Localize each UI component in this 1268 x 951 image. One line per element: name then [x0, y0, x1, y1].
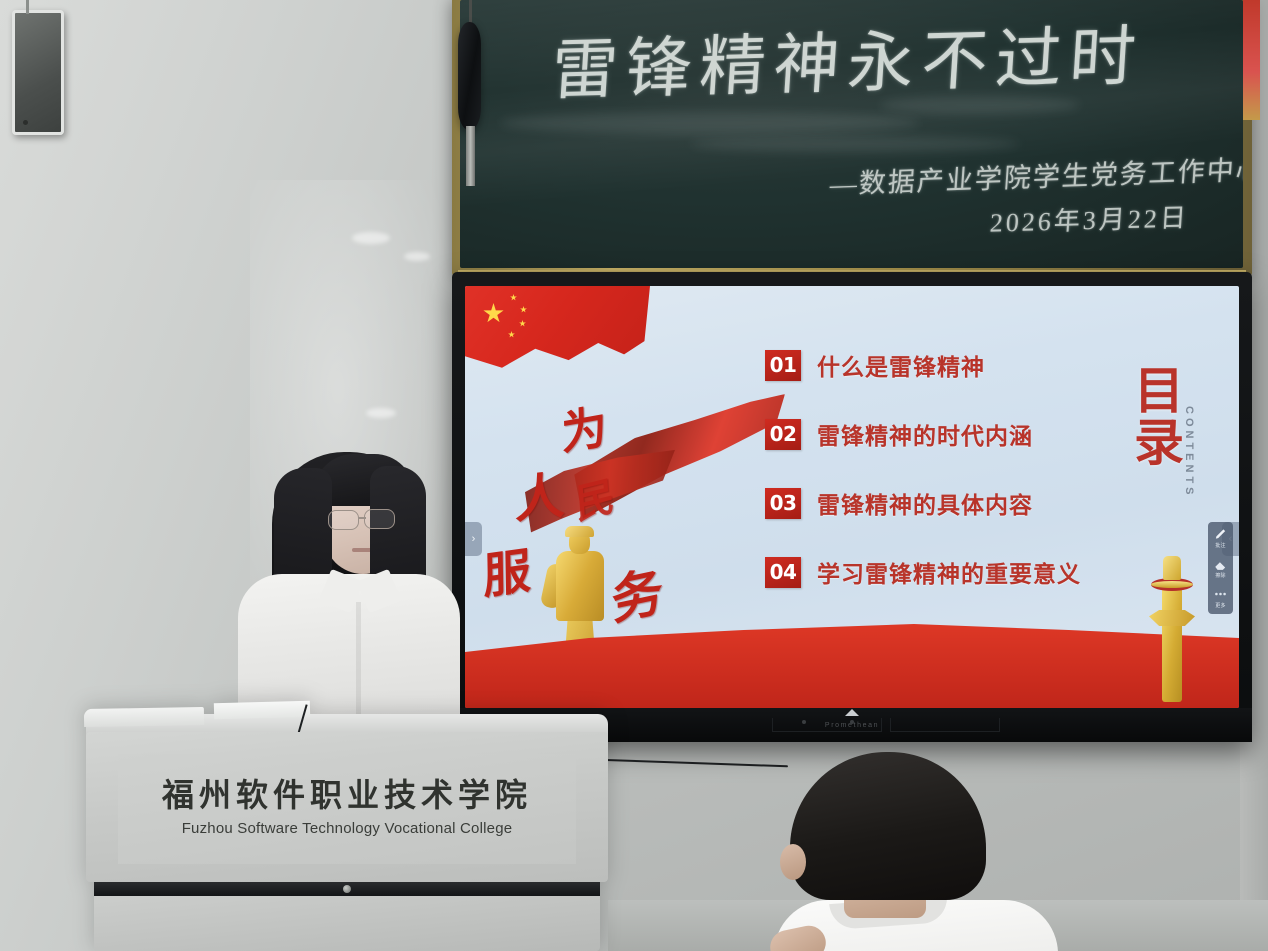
slide-heading: 目录 CONTENTS: [1130, 364, 1195, 499]
list-item: 03 雷锋精神的具体内容: [765, 486, 1095, 520]
podium-lock-icon: [343, 885, 351, 893]
glasses-bridge: [358, 517, 366, 519]
slide-heading-en: CONTENTS: [1183, 406, 1195, 499]
podium-front-panel: 福州软件职业技术学院 Fuzhou Software Technology Vo…: [86, 732, 608, 882]
podium-paper-ledge: [84, 707, 204, 727]
blackboard-date: 2026年3月22日: [989, 197, 1190, 239]
calligraphy-char: 务: [610, 548, 665, 635]
panel-button[interactable]: [802, 720, 806, 724]
flag-star-small: [508, 331, 515, 338]
toolbar-more-button[interactable]: 更多: [1210, 587, 1231, 609]
item-number: 01: [765, 350, 801, 381]
lectern-podium: 福州软件职业技术学院 Fuzhou Software Technology Vo…: [86, 714, 608, 951]
wall-scuff: [404, 252, 430, 261]
podium-base: [94, 896, 600, 951]
statue-cap: [565, 526, 594, 537]
item-number: 02: [765, 419, 801, 450]
flag-star-small: [519, 320, 526, 327]
podium-papers: [214, 701, 310, 720]
audience-hair: [790, 752, 986, 900]
microphone-stem: [466, 126, 475, 186]
presenter-person: [228, 452, 466, 727]
toolbar-eraser-button[interactable]: 擦除: [1210, 557, 1231, 579]
chalk-smear: [500, 112, 920, 134]
list-item: 01 什么是雷锋精神: [765, 348, 1095, 382]
classroom-scene: 雷锋精神永不过时 —数据产业学院学生党务工作中心 2026年3月22日 为 人 …: [0, 0, 1268, 951]
panel-seam: [772, 718, 882, 732]
more-icon: [1212, 587, 1229, 601]
panel-seam: [890, 718, 1000, 732]
wall-scuff: [352, 232, 390, 244]
item-number: 04: [765, 557, 801, 588]
presenter-mouth: [352, 548, 372, 552]
flag-star-small: [520, 306, 527, 313]
glasses-icon: [328, 510, 359, 530]
toolbar-eraser-label: 擦除: [1215, 572, 1226, 579]
calligraphy-char: 人: [515, 455, 565, 533]
list-item: 04 学习雷锋精神的重要意义: [765, 555, 1095, 589]
flag-star-large: [483, 303, 504, 324]
calligraphy-char: 为: [560, 390, 608, 465]
pen-icon: [1212, 527, 1229, 541]
huabiao-column-graphic: [1151, 552, 1193, 702]
item-number: 03: [765, 488, 801, 519]
chinese-flag-icon: [465, 286, 650, 381]
speaker-indicator-dot: [23, 120, 28, 125]
display-cable: [598, 759, 788, 768]
list-item: 02 雷锋精神的时代内涵: [765, 417, 1095, 451]
glasses-icon: [364, 509, 395, 529]
calligraphy-char: 民: [574, 463, 617, 531]
blackboard-surface: 雷锋精神永不过时 —数据产业学院学生党务工作中心 2026年3月22日: [460, 0, 1243, 268]
huabiao-top-beast: [1163, 556, 1181, 580]
calligraphy-char: 服: [483, 530, 532, 607]
presentation-screen[interactable]: 为 人 民 服 务 01 什么是雷锋精神 02 雷锋精神的时代内涵: [465, 286, 1239, 708]
wall-speaker-box: [12, 10, 64, 135]
hanging-microphone-icon: [458, 22, 481, 130]
flag-star-small: [510, 294, 517, 301]
slide-heading-cn: 目录: [1130, 364, 1179, 468]
college-name-cn: 福州软件职业技术学院: [162, 770, 532, 816]
panel-up-arrow-icon[interactable]: [845, 709, 859, 716]
blackboard-frame: 雷锋精神永不过时 —数据产业学院学生党务工作中心 2026年3月22日: [452, 0, 1252, 276]
speaker-cable: [26, 0, 29, 14]
presenter-shirt-placket: [356, 602, 361, 720]
item-label: 什么是雷锋精神: [817, 348, 985, 382]
audience-ear: [780, 844, 806, 880]
huabiao-shaft: [1162, 586, 1182, 702]
item-label: 雷锋精神的具体内容: [817, 486, 1033, 520]
panel-button[interactable]: [850, 720, 854, 724]
slide-contents-list: 01 什么是雷锋精神 02 雷锋精神的时代内涵 03 雷锋精神的具体内容 04 …: [765, 348, 1095, 624]
annotation-toolbar[interactable]: 批注 擦除 更多: [1208, 522, 1233, 614]
screen-nav-left-tab[interactable]: ›: [465, 522, 482, 556]
eraser-icon: [1212, 557, 1229, 571]
blackboard-title: 雷锋精神永不过时: [549, 3, 1147, 114]
item-label: 雷锋精神的时代内涵: [817, 417, 1033, 451]
huabiao-wing: [1149, 610, 1195, 626]
toolbar-more-label: 更多: [1215, 602, 1226, 609]
chalk-smear: [690, 136, 1020, 152]
wall-scuff: [366, 408, 396, 418]
college-name-en: Fuzhou Software Technology Vocational Co…: [182, 820, 513, 837]
interactive-flat-panel-display[interactable]: 为 人 民 服 务 01 什么是雷锋精神 02 雷锋精神的时代内涵: [452, 272, 1252, 742]
red-wall-poster-strip: [1243, 0, 1260, 120]
toolbar-pen-label: 批注: [1215, 542, 1226, 549]
toolbar-pen-button[interactable]: 批注: [1210, 527, 1231, 549]
item-label: 学习雷锋精神的重要意义: [817, 555, 1081, 589]
statue-body: [556, 551, 604, 621]
audience-person: [770, 752, 1060, 951]
